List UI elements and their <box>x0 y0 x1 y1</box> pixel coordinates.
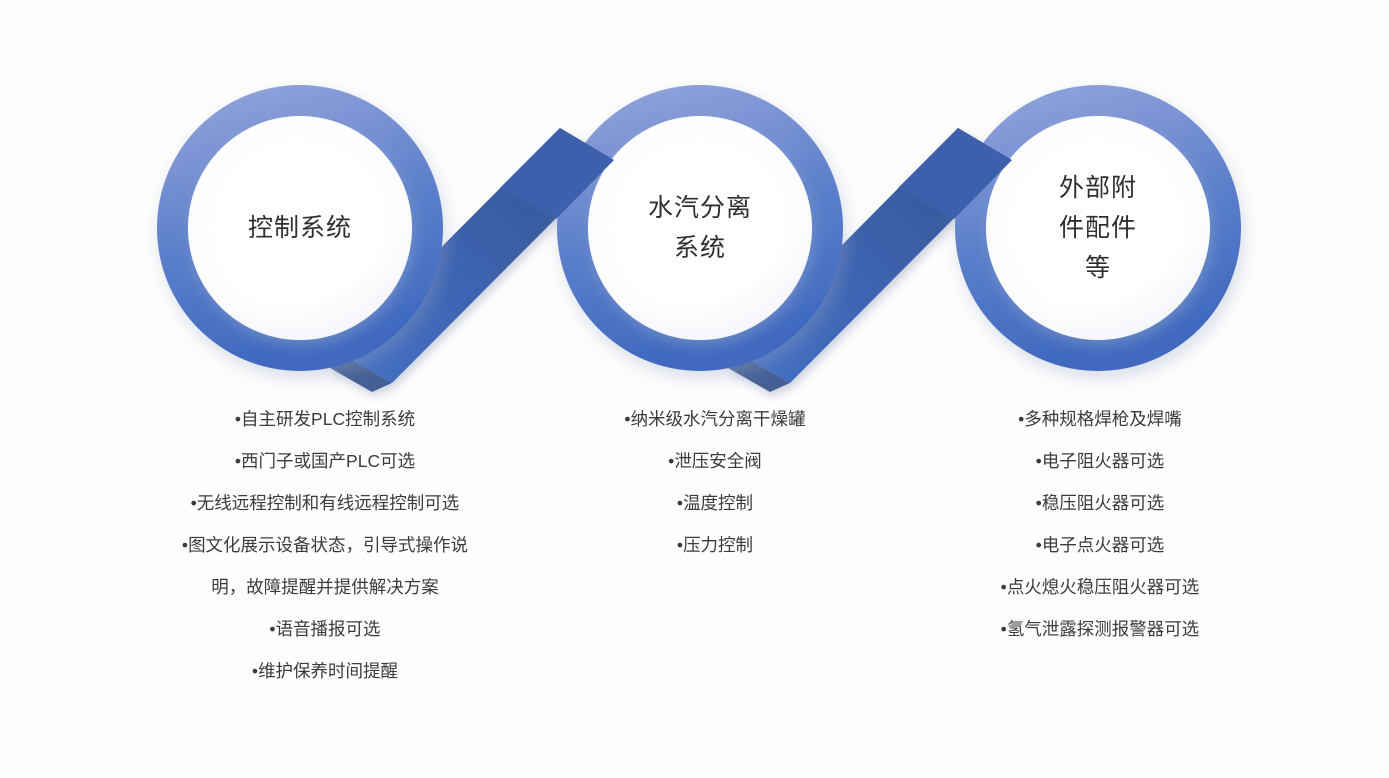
list-item: •氢气泄露探测报警器可选 <box>920 608 1280 650</box>
list-item: •维护保养时间提醒 <box>130 650 520 692</box>
list-item: •电子阻火器可选 <box>920 440 1280 482</box>
list-item: •语音播报可选 <box>130 608 520 650</box>
list-item-label: 点火熄火稳压阻火器可选 <box>1007 577 1200 597</box>
list-item-label: 压力控制 <box>683 535 753 555</box>
ring-node-2 <box>557 85 843 371</box>
list-item-label: 稳压阻火器可选 <box>1042 493 1165 513</box>
list-item-label: 语音播报可选 <box>276 619 381 639</box>
bullet-list-column-2: •纳米级水汽分离干燥罐•泄压安全阀•温度控制•压力控制 <box>555 398 875 566</box>
list-item-label: 西门子或国产PLC可选 <box>241 451 415 471</box>
list-item-label: 电子点火器可选 <box>1042 535 1165 555</box>
list-item: •无线远程控制和有线远程控制可选 <box>130 482 520 524</box>
list-item-label: 温度控制 <box>683 493 753 513</box>
list-item-label: 图文化展示设备状态，引导式操作说 <box>188 535 468 555</box>
ring-node-1 <box>157 85 443 371</box>
list-item-label: 明，故障提醒并提供解决方案 <box>211 577 439 597</box>
ring-node-3 <box>955 85 1241 371</box>
list-item: •泄压安全阀 <box>555 440 875 482</box>
list-item: •纳米级水汽分离干燥罐 <box>555 398 875 440</box>
list-item: •温度控制 <box>555 482 875 524</box>
list-item-label: 氢气泄露探测报警器可选 <box>1007 619 1200 639</box>
list-item-label: 自主研发PLC控制系统 <box>241 409 415 429</box>
list-item: •点火熄火稳压阻火器可选 <box>920 566 1280 608</box>
list-item-label: 电子阻火器可选 <box>1042 451 1165 471</box>
bullet-list-column-1: •自主研发PLC控制系统•西门子或国产PLC可选•无线远程控制和有线远程控制可选… <box>130 398 520 692</box>
bullet-list-column-3: •多种规格焊枪及焊嘴•电子阻火器可选•稳压阻火器可选•电子点火器可选•点火熄火稳… <box>920 398 1280 650</box>
list-item: •图文化展示设备状态，引导式操作说 <box>130 524 520 566</box>
list-item: 明，故障提醒并提供解决方案 <box>130 566 520 608</box>
ring-chain-diagram: 控制系统 水汽分离 系统 外部附 件配件 等 <box>0 0 1389 410</box>
list-item: •压力控制 <box>555 524 875 566</box>
list-item: •自主研发PLC控制系统 <box>130 398 520 440</box>
list-item: •稳压阻火器可选 <box>920 482 1280 524</box>
diagram-svg <box>0 0 1389 410</box>
list-item-label: 无线远程控制和有线远程控制可选 <box>197 493 460 513</box>
list-item-label: 多种规格焊枪及焊嘴 <box>1024 409 1182 429</box>
list-item: •西门子或国产PLC可选 <box>130 440 520 482</box>
bullet-lists: •自主研发PLC控制系统•西门子或国产PLC可选•无线远程控制和有线远程控制可选… <box>0 398 1389 778</box>
list-item: •多种规格焊枪及焊嘴 <box>920 398 1280 440</box>
list-item-label: 维护保养时间提醒 <box>258 661 398 681</box>
list-item: •电子点火器可选 <box>920 524 1280 566</box>
list-item-label: 纳米级水汽分离干燥罐 <box>631 409 806 429</box>
list-item-label: 泄压安全阀 <box>674 451 762 471</box>
